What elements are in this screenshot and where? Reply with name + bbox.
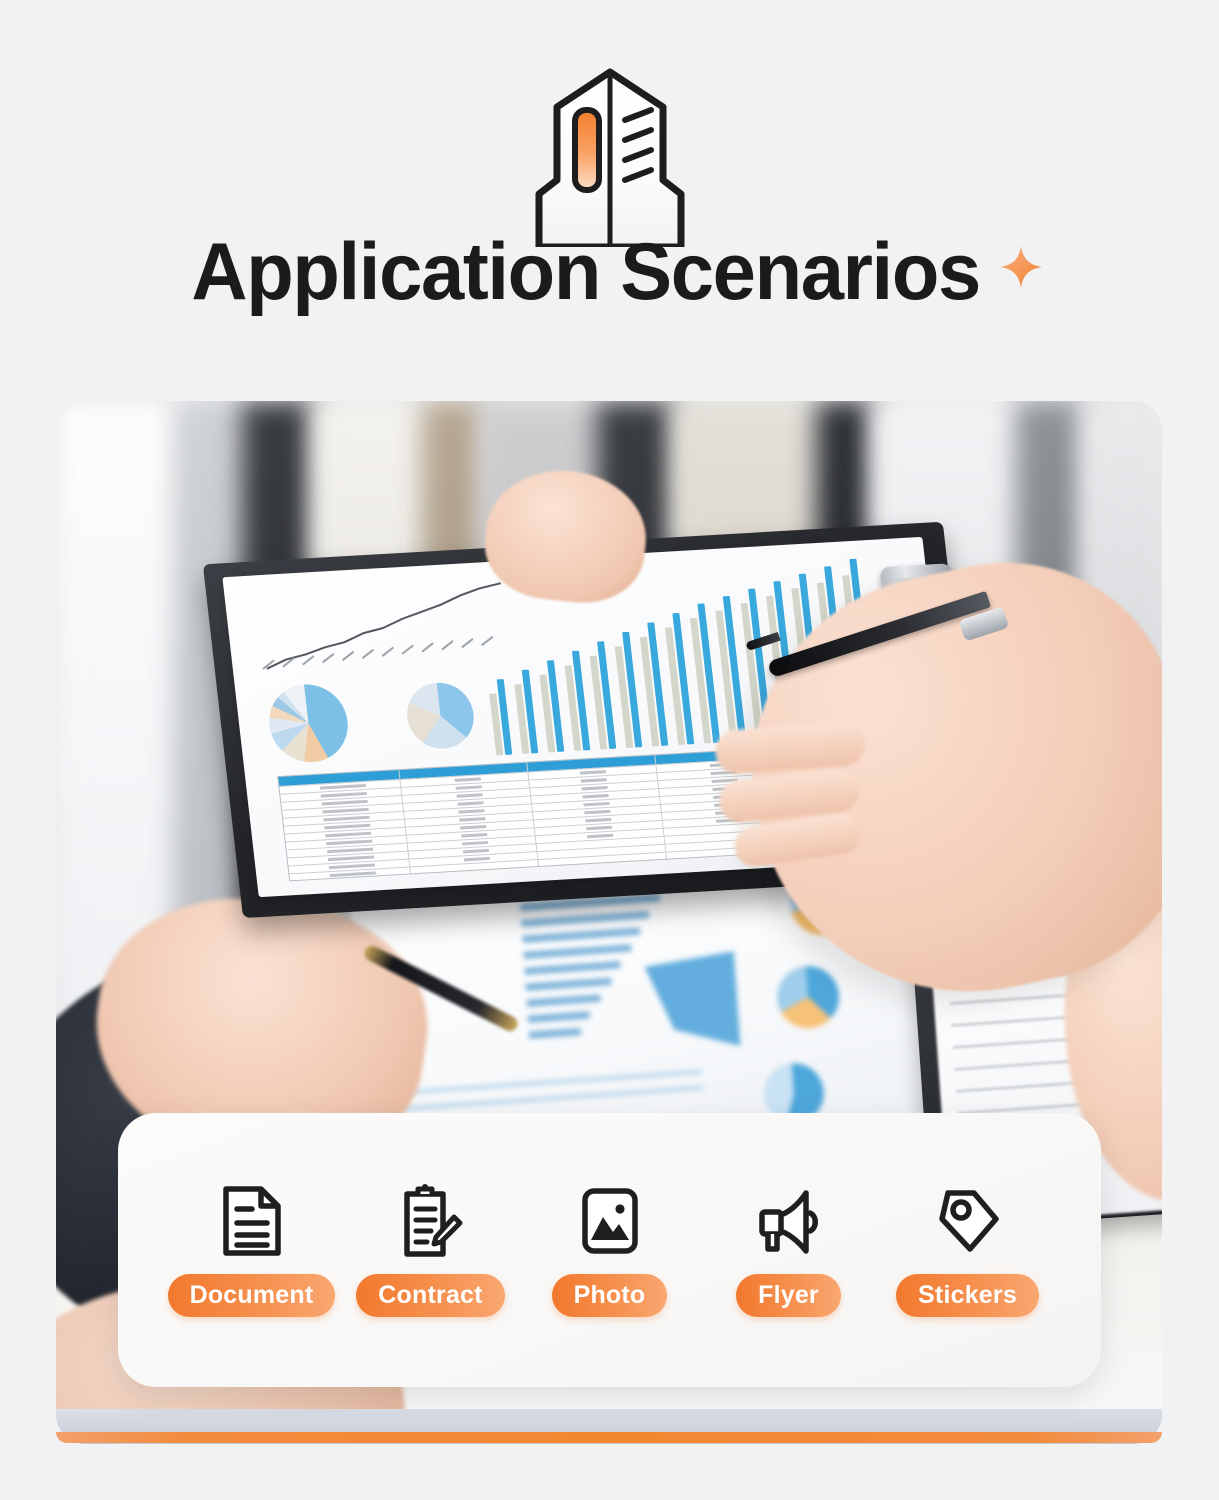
category-label-document[interactable]: Document	[168, 1274, 336, 1317]
category-label-contract[interactable]: Contract	[356, 1274, 504, 1317]
building-tower-icon	[495, 62, 725, 247]
document-file-icon	[215, 1184, 289, 1258]
photo-accent-bar	[56, 1432, 1162, 1443]
category-card: Document	[118, 1113, 1101, 1387]
page-title-row: Application Scenarios	[0, 232, 1219, 313]
image-picture-icon	[573, 1184, 647, 1258]
printed-pie-chart-2	[404, 681, 477, 750]
category-document[interactable]: Document	[164, 1184, 339, 1317]
category-contract[interactable]: Contract	[343, 1184, 518, 1317]
printed-pie-chart-1	[265, 682, 352, 764]
category-stickers[interactable]: Stickers	[880, 1184, 1055, 1317]
category-photo[interactable]: Photo	[522, 1184, 697, 1317]
category-label-photo[interactable]: Photo	[552, 1274, 668, 1317]
category-label-stickers[interactable]: Stickers	[896, 1274, 1039, 1317]
sparkle-star-icon	[998, 244, 1044, 290]
page-title: Application Scenarios	[191, 232, 979, 313]
megaphone-icon	[752, 1184, 826, 1258]
price-tag-icon	[931, 1184, 1005, 1258]
category-flyer[interactable]: Flyer	[701, 1184, 876, 1317]
category-label-flyer[interactable]: Flyer	[736, 1274, 841, 1317]
application-scenarios-page: Application Scenarios	[0, 0, 1219, 1500]
page-header: Application Scenarios	[0, 0, 1219, 390]
clipboard-pencil-icon	[394, 1184, 468, 1258]
